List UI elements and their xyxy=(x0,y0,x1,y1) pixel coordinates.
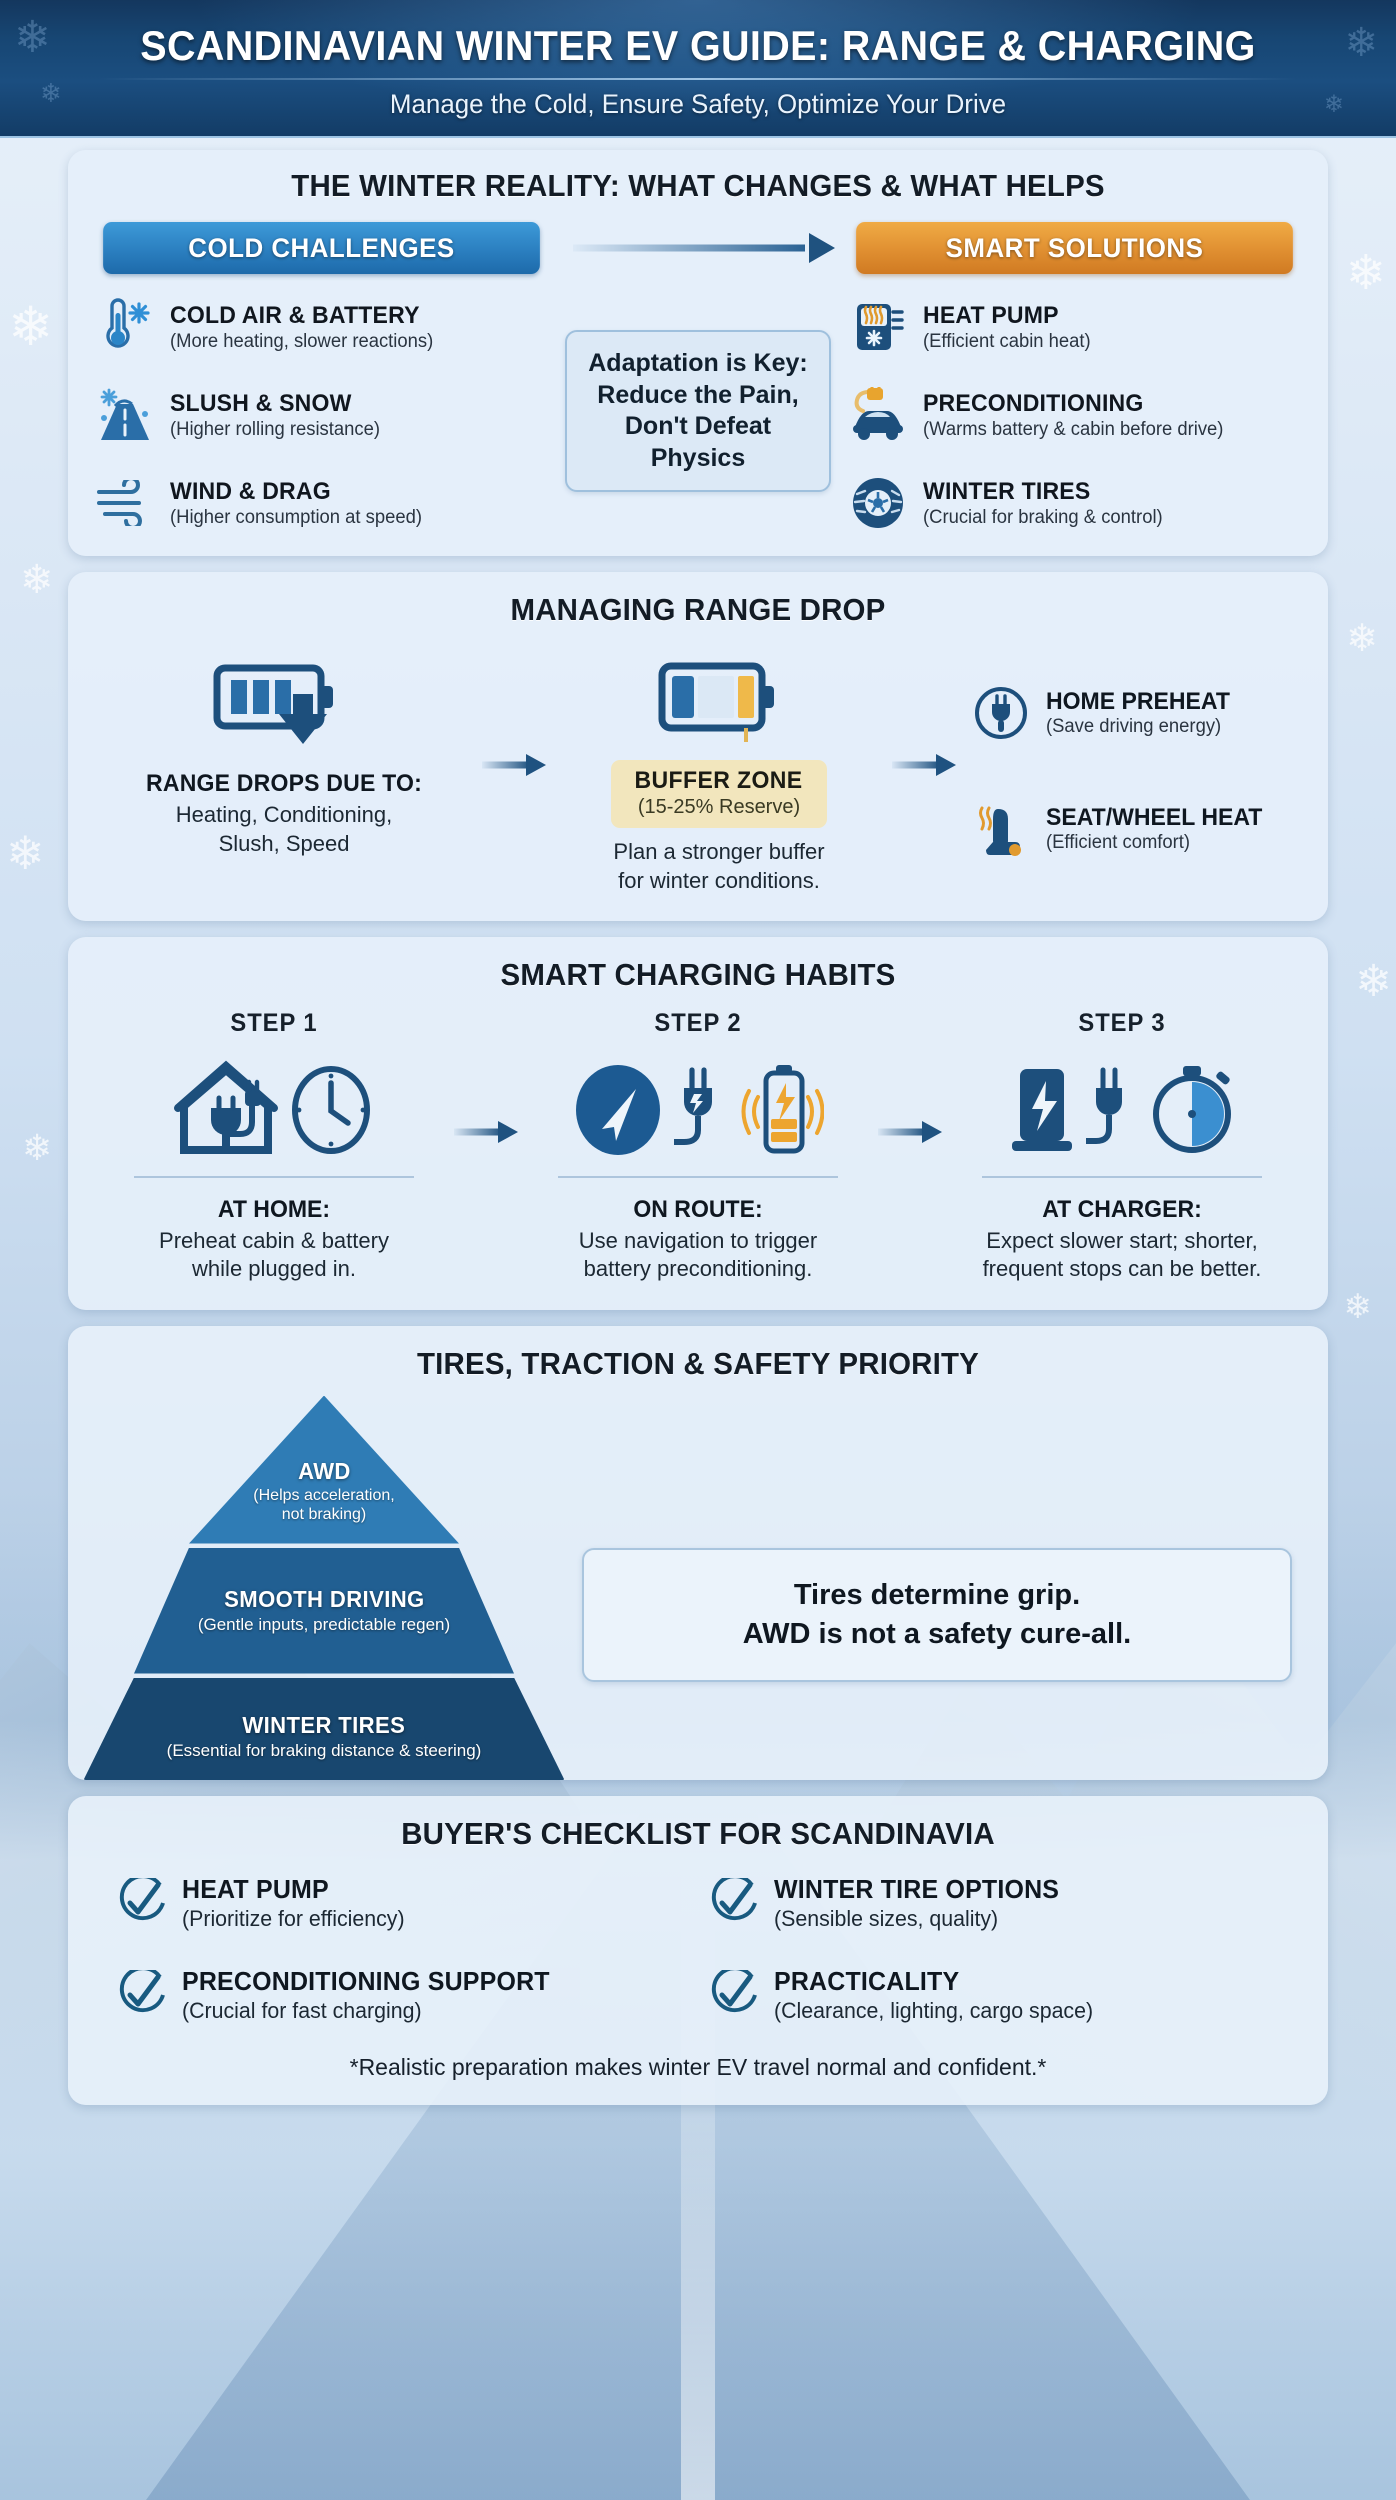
section-tires-traction-safety: TIRES, TRACTION & SAFETY PRIORITY AWD (H… xyxy=(68,1326,1328,1780)
pyramid-level-title: WINTER TIRES xyxy=(243,1712,406,1739)
list-item-sub: (Warms battery & cabin before drive) xyxy=(923,419,1223,441)
check-circle-icon xyxy=(116,1878,166,1928)
section-title-tires: TIRES, TRACTION & SAFETY PRIORITY xyxy=(124,1346,1272,1382)
step-divider xyxy=(134,1176,415,1178)
heated-seat-icon xyxy=(970,798,1032,860)
right-arrow-icon xyxy=(474,648,554,776)
pyramid-level-winter-tires: WINTER TIRES (Essential for braking dist… xyxy=(74,1678,574,1780)
list-item-seat-wheel-heat: SEAT/WHEEL HEAT (Efficient comfort) xyxy=(970,798,1302,860)
header-divider xyxy=(98,78,1299,80)
list-item-sub: (Efficient cabin heat) xyxy=(923,331,1091,353)
pyramid-level-title: SMOOTH DRIVING xyxy=(224,1586,424,1613)
list-item-title: SEAT/WHEEL HEAT xyxy=(1046,804,1262,832)
page-title: SCANDINAVIAN WINTER EV GUIDE: RANGE & CH… xyxy=(42,0,1354,70)
winter-tire-icon xyxy=(847,472,909,534)
right-arrow-icon xyxy=(549,235,847,261)
checklist-item-sub: (Clearance, lighting, cargo space) xyxy=(774,1998,1093,2024)
checklist-item-winter-tire-options: WINTER TIRE OPTIONS (Sensible sizes, qua… xyxy=(708,1874,1280,1932)
checklist-item-preconditioning-support: PRECONDITIONING SUPPORT (Crucial for fas… xyxy=(116,1966,688,2024)
list-item-title: WIND & DRAG xyxy=(170,478,419,506)
buffer-zone-reserve: (15-25% Reserve) xyxy=(631,796,806,819)
battery-down-arrow-icon xyxy=(94,648,474,752)
pyramid-level-smooth-driving: SMOOTH DRIVING (Gentle inputs, predictab… xyxy=(134,1548,514,1674)
buffer-zone-label: BUFFER ZONE xyxy=(635,767,803,795)
section-winter-reality: THE WINTER REALITY: WHAT CHANGES & WHAT … xyxy=(68,150,1328,556)
check-circle-icon xyxy=(708,1878,758,1928)
range-drop-title: RANGE DROPS DUE TO: xyxy=(102,770,467,798)
right-arrow-icon xyxy=(884,648,964,776)
step-divider xyxy=(558,1176,839,1178)
buffer-zone-block: BUFFER ZONE (15-25% Reserve) Plan a stro… xyxy=(554,648,884,895)
list-item-sub: (More heating, slower reactions) xyxy=(170,331,433,353)
step-3-title: AT CHARGER: xyxy=(949,1196,1295,1224)
check-circle-icon xyxy=(116,1970,166,2020)
list-item-winter-tires: WINTER TIRES (Crucial for braking & cont… xyxy=(847,472,1302,534)
checklist-item-title: PRECONDITIONING SUPPORT xyxy=(182,1966,550,1997)
step-1-label: STEP 1 xyxy=(103,1009,445,1038)
plug-circle-icon xyxy=(970,682,1032,744)
smart-solutions-list: HEAT PUMP (Efficient cabin heat) xyxy=(847,296,1302,534)
pyramid-level-sub: (Essential for braking distance & steeri… xyxy=(167,1741,482,1761)
plug-icon xyxy=(670,1062,732,1158)
step-2: STEP 2 xyxy=(518,1009,878,1283)
thermometer-snowflake-icon xyxy=(94,296,156,358)
section-buyers-checklist: BUYER'S CHECKLIST FOR SCANDINAVIA HEAT P… xyxy=(68,1796,1328,2105)
list-item-sub: (Higher rolling resistance) xyxy=(170,419,380,441)
stopwatch-icon xyxy=(1146,1060,1238,1160)
checklist-item-title: WINTER TIRE OPTIONS xyxy=(774,1874,1059,1905)
list-item-slush-snow: SLUSH & SNOW (Higher rolling resistance) xyxy=(94,384,549,446)
list-item-title: WINTER TIRES xyxy=(923,478,1160,506)
step-2-desc: Use navigation to trigger battery precon… xyxy=(518,1227,878,1283)
list-item-sub: (Efficient comfort) xyxy=(1046,832,1265,854)
checklist-item-sub: (Sensible sizes, quality) xyxy=(774,1906,1062,1932)
list-item-title: COLD AIR & BATTERY xyxy=(170,302,431,330)
section-title-checklist: BUYER'S CHECKLIST FOR SCANDINAVIA xyxy=(124,1816,1272,1852)
tires-grip-note: Tires determine grip. AWD is not a safet… xyxy=(582,1548,1292,1682)
right-arrow-icon xyxy=(878,1009,942,1143)
checklist-item-sub: (Crucial for fast charging) xyxy=(182,1998,554,2024)
step-3-desc: Expect slower start; shorter, frequent s… xyxy=(942,1227,1302,1283)
plug-icon xyxy=(1084,1062,1140,1158)
wind-icon xyxy=(94,472,156,534)
adaptation-note-l1: Adaptation is Key: xyxy=(579,348,817,380)
list-item-sub: (Crucial for braking & control) xyxy=(923,507,1163,529)
pyramid-level-title: AWD xyxy=(298,1458,351,1485)
list-item-sub: (Higher consumption at speed) xyxy=(170,507,422,529)
snowy-road-icon xyxy=(94,384,156,446)
pyramid-level-awd: AWD (Helps acceleration, not braking) xyxy=(189,1396,459,1544)
range-drop-causes-lines: Heating, Conditioning, Slush, Speed xyxy=(94,801,474,858)
tires-grip-note-l1: Tires determine grip. xyxy=(602,1576,1272,1615)
check-circle-icon xyxy=(708,1970,758,2020)
right-arrow-icon xyxy=(454,1009,518,1143)
charging-station-icon xyxy=(1006,1061,1078,1159)
tires-grip-note-l2: AWD is not a safety cure-all. xyxy=(602,1615,1272,1654)
checklist-item-practicality: PRACTICALITY (Clearance, lighting, cargo… xyxy=(708,1966,1280,2024)
battery-buffer-icon xyxy=(554,648,884,752)
list-item-cold-air-battery: COLD AIR & BATTERY (More heating, slower… xyxy=(94,296,549,358)
adaptation-note-l3: Don't Defeat Physics xyxy=(579,411,817,474)
step-2-label: STEP 2 xyxy=(527,1009,869,1038)
list-item-title: PRECONDITIONING xyxy=(923,390,1220,418)
section-title-charging: SMART CHARGING HABITS xyxy=(124,957,1272,993)
navigation-arrow-icon xyxy=(572,1061,664,1159)
car-plug-icon xyxy=(847,384,909,446)
list-item-title: SLUSH & SNOW xyxy=(170,390,378,418)
step-1: STEP 1 xyxy=(94,1009,454,1283)
list-item-preconditioning: PRECONDITIONING (Warms battery & cabin b… xyxy=(847,384,1302,446)
house-plug-icon xyxy=(174,1060,282,1160)
section-managing-range-drop: MANAGING RANGE DROP RANGE DROPS DUE TO: … xyxy=(68,572,1328,921)
checklist-item-sub: (Prioritize for efficiency) xyxy=(182,1906,405,1932)
range-mitigations: HOME PREHEAT (Save driving energy) xyxy=(964,648,1302,860)
list-item-title: HEAT PUMP xyxy=(923,302,1089,330)
cold-challenges-pill: COLD CHALLENGES xyxy=(103,222,540,274)
adaptation-note-l2: Reduce the Pain, xyxy=(579,380,817,412)
checklist-item-title: HEAT PUMP xyxy=(182,1874,402,1905)
pyramid-level-sub: (Gentle inputs, predictable regen) xyxy=(198,1615,450,1635)
heat-pump-icon xyxy=(847,296,909,358)
page-subtitle: Manage the Cold, Ensure Safety, Optimize… xyxy=(28,89,1368,120)
safety-priority-pyramid: AWD (Helps acceleration, not braking) SM… xyxy=(94,1396,554,1754)
section-title-winter-reality: THE WINTER REALITY: WHAT CHANGES & WHAT … xyxy=(124,168,1272,204)
step-3: STEP 3 xyxy=(942,1009,1302,1283)
step-divider xyxy=(982,1176,1263,1178)
step-3-label: STEP 3 xyxy=(951,1009,1293,1038)
smart-solutions-pill: SMART SOLUTIONS xyxy=(856,222,1293,274)
section-title-range-drop: MANAGING RANGE DROP xyxy=(124,592,1272,628)
list-item-sub: (Save driving energy) xyxy=(1046,716,1232,738)
checklist-item-heat-pump: HEAT PUMP (Prioritize for efficiency) xyxy=(116,1874,688,1932)
buffer-zone-note: Plan a stronger buffer for winter condit… xyxy=(554,838,884,895)
list-item-home-preheat: HOME PREHEAT (Save driving energy) xyxy=(970,682,1302,744)
clock-icon xyxy=(288,1063,374,1157)
checklist-footer-note: *Realistic preparation makes winter EV t… xyxy=(94,2054,1302,2081)
list-item-heat-pump: HEAT PUMP (Efficient cabin heat) xyxy=(847,296,1302,358)
list-item-wind-drag: WIND & DRAG (Higher consumption at speed… xyxy=(94,472,549,534)
adaptation-note: Adaptation is Key: Reduce the Pain, Don'… xyxy=(565,330,831,492)
charging-battery-icon xyxy=(738,1061,824,1159)
cold-challenges-list: COLD AIR & BATTERY (More heating, slower… xyxy=(94,296,549,534)
checklist-item-title: PRACTICALITY xyxy=(774,1966,1090,1997)
step-1-desc: Preheat cabin & battery while plugged in… xyxy=(94,1227,454,1283)
list-item-title: HOME PREHEAT xyxy=(1046,688,1230,716)
step-1-title: AT HOME: xyxy=(101,1196,447,1224)
challenge-solution-headers: COLD CHALLENGES SMART SOLUTIONS xyxy=(94,222,1302,274)
section-smart-charging-habits: SMART CHARGING HABITS STEP 1 xyxy=(68,937,1328,1309)
range-drop-causes: RANGE DROPS DUE TO: Heating, Conditionin… xyxy=(94,648,474,858)
step-2-title: ON ROUTE: xyxy=(525,1196,871,1224)
page-header: ❄ ❄ ❄ ❄ SCANDINAVIAN WINTER EV GUIDE: RA… xyxy=(0,0,1396,138)
pyramid-level-sub: (Helps acceleration, not braking) xyxy=(253,1487,394,1525)
buffer-zone-chip: BUFFER ZONE (15-25% Reserve) xyxy=(611,760,826,828)
